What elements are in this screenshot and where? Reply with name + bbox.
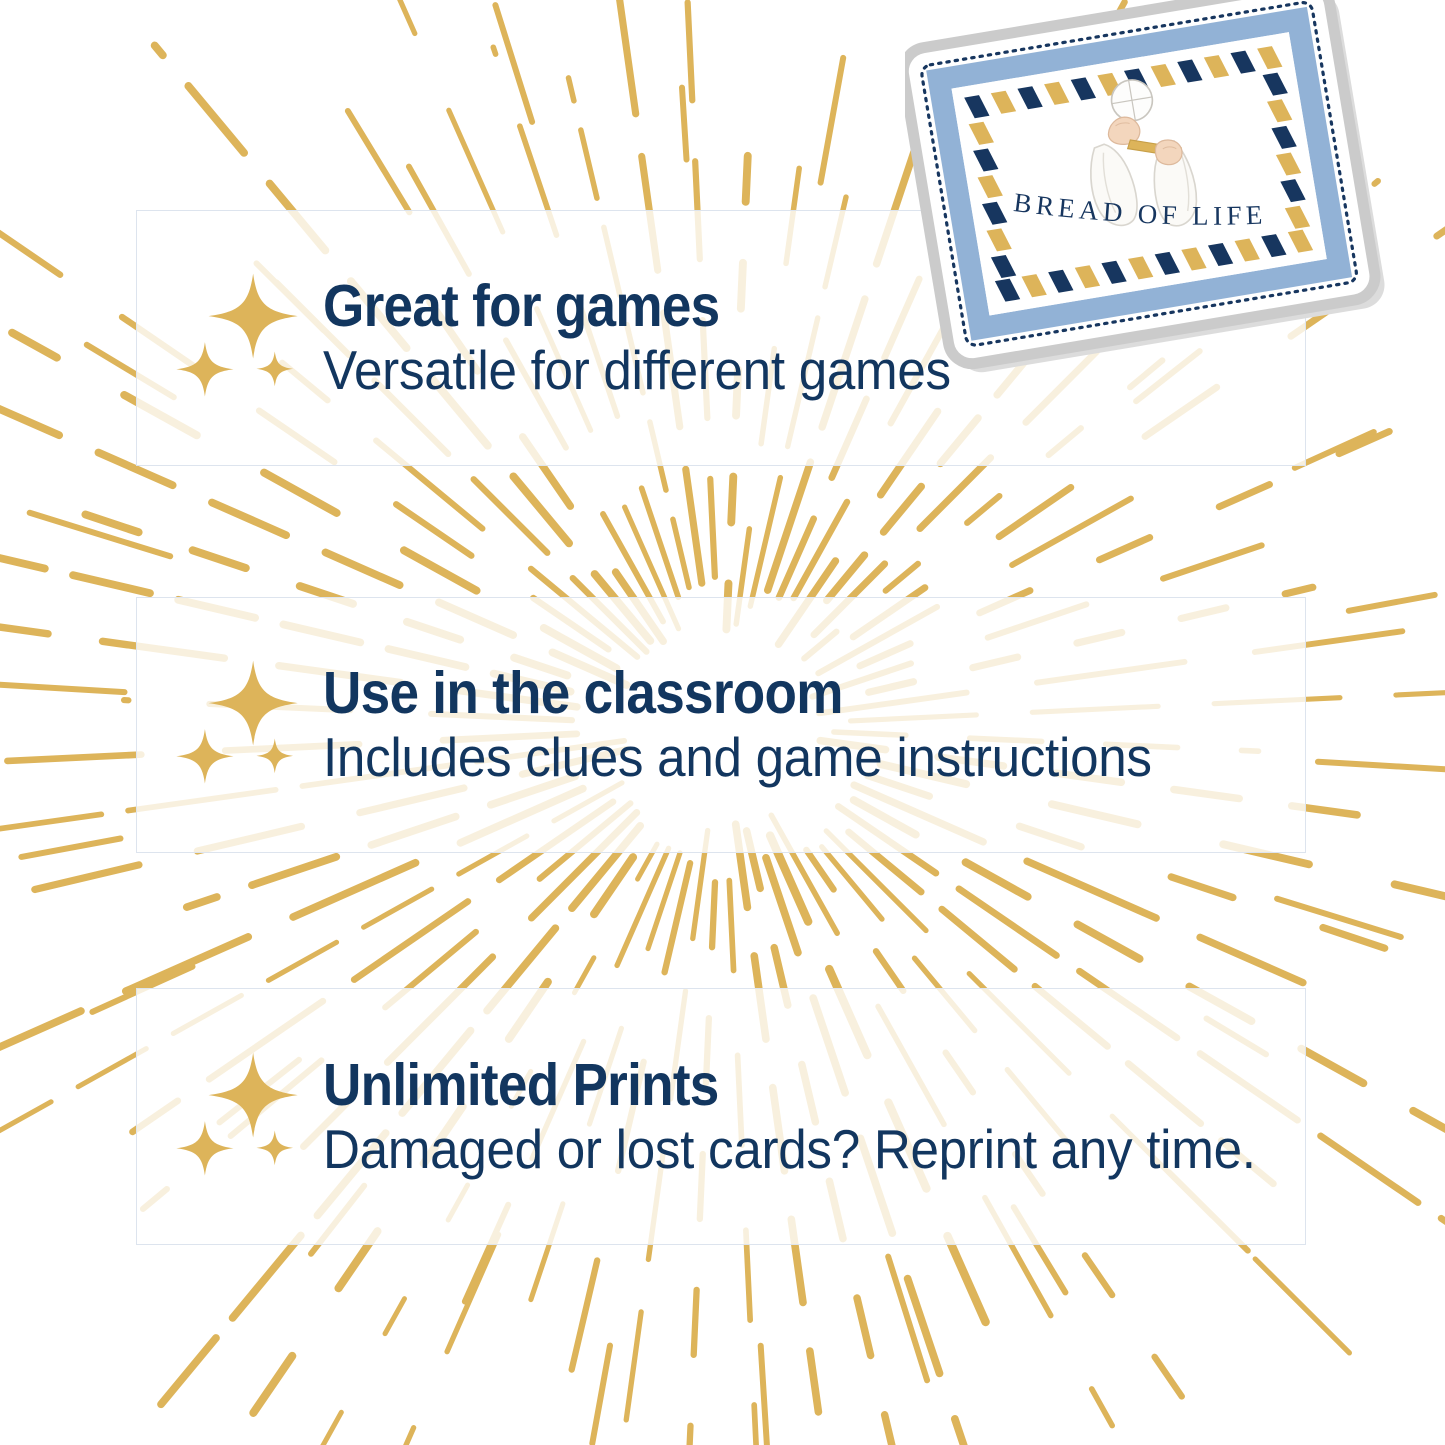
feature-title: Unlimited Prints [323,1055,1226,1115]
feature-card-use-in-the-classroom: Use in the classroom Includes clues and … [136,597,1306,853]
feature-text-block: Great for games Versatile for different … [323,276,998,400]
feature-subtitle: Damaged or lost cards? Reprint any time. [323,1121,1256,1179]
sparkles-icon [175,1049,311,1185]
feature-title: Great for games [323,276,931,336]
feature-card-unlimited-prints: Unlimited Prints Damaged or lost cards? … [136,988,1306,1245]
promo-graphic: Great for games Versatile for different … [0,0,1445,1445]
feature-subtitle: Includes clues and game instructions [323,729,1152,787]
feature-card-great-for-games: Great for games Versatile for different … [136,210,1306,466]
feature-title: Use in the classroom [323,663,1125,723]
feature-text-block: Use in the classroom Includes clues and … [323,663,1214,787]
feature-subtitle: Versatile for different games [323,342,951,400]
sparkles-icon [175,270,311,406]
feature-text-block: Unlimited Prints Damaged or lost cards? … [323,1055,1326,1179]
sparkles-icon [175,657,311,793]
